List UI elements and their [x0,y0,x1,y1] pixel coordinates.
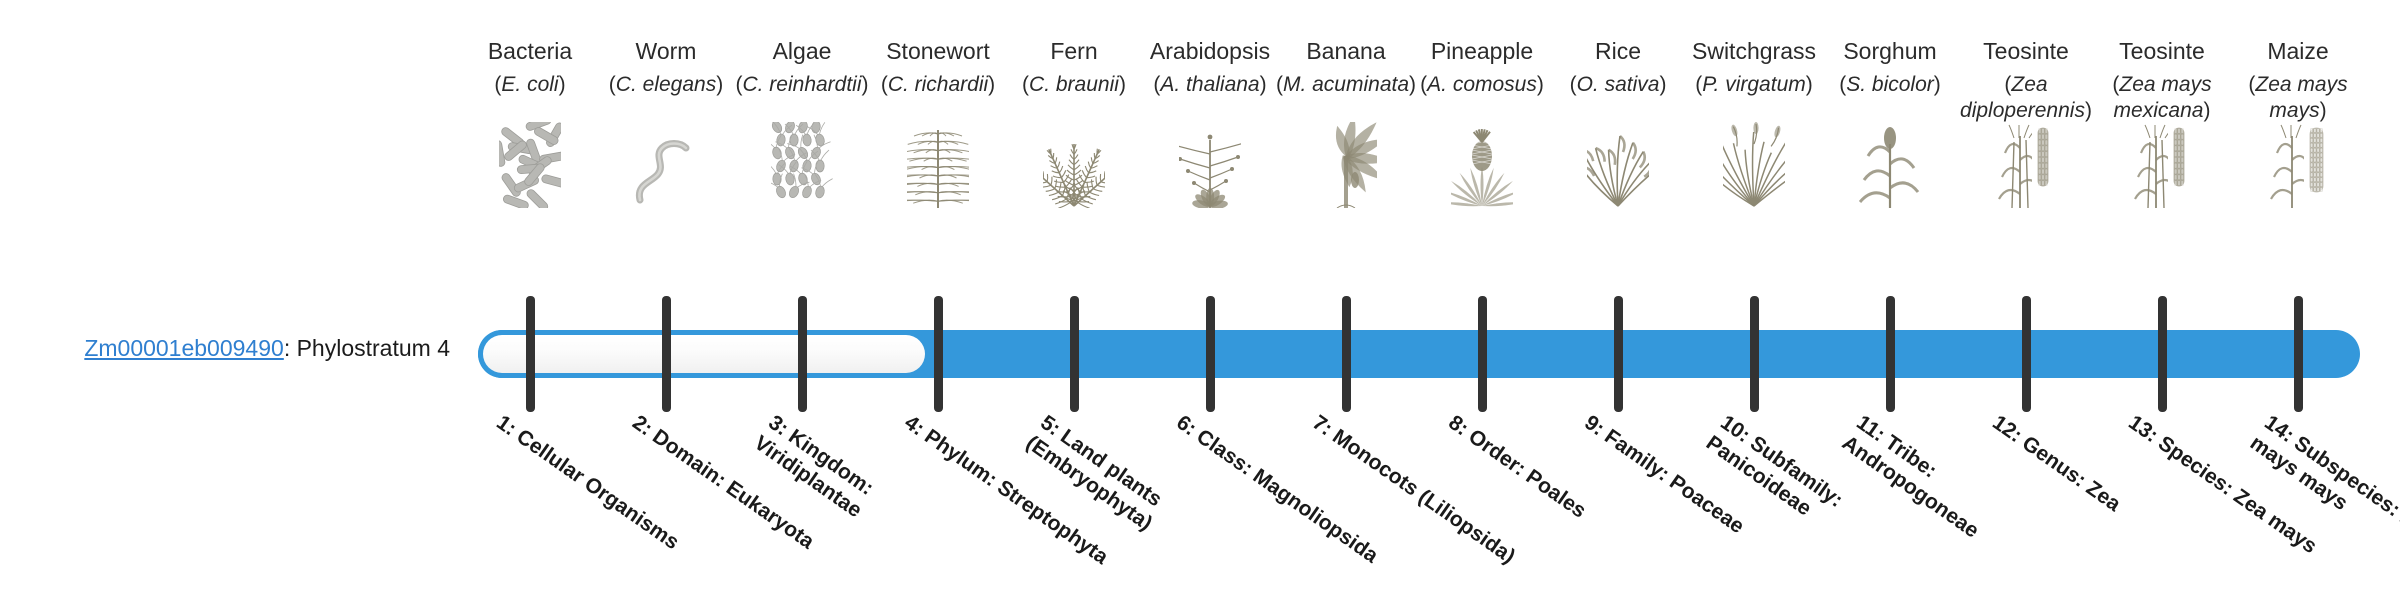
tick-mark-14 [2294,296,2303,412]
fern-frond-icon [1006,120,1142,208]
maize-plant-ear-icon [2230,120,2366,208]
teosinte-plant-ear-icon [2094,120,2230,208]
tick-mark-1 [526,296,535,412]
tick-mark-11 [1886,296,1895,412]
species-scientific-name: (C. richardii) [860,72,1016,98]
phylostratum-progress-bar[interactable] [478,330,2360,378]
species-scientific-name: (Zea mays mays) [2220,72,2376,124]
tick-mark-6 [1206,296,1215,412]
species-scientific-name: (P. virgatum) [1676,72,1832,98]
species-scientific-name: (C. braunii) [996,72,1152,98]
tick-mark-8 [1478,296,1487,412]
phylostratum-value: Phylostratum 4 [297,335,450,361]
tick-mark-10 [1750,296,1759,412]
species-scientific-name: (E. coli) [452,72,608,98]
teosinte-plant-ear-icon [1958,120,2094,208]
species-scientific-name: (M. acuminata) [1268,72,1424,98]
banana-plant-icon [1278,120,1414,208]
species-scientific-name: (Zea mays mexicana) [2084,72,2240,124]
tick-mark-13 [2158,296,2167,412]
tick-mark-7 [1342,296,1351,412]
tick-mark-5 [1070,296,1079,412]
nematode-worm-icon [598,120,734,208]
species-scientific-name: (Zea diploperennis) [1948,72,2104,124]
species-scientific-name: (A. thaliana) [1132,72,1288,98]
rice-plant-icon [1550,120,1686,208]
species-scientific-name: (C. reinhardtii) [724,72,880,98]
bacteria-rods-icon [462,120,598,208]
tick-mark-3 [798,296,807,412]
tick-mark-4 [934,296,943,412]
sorghum-plant-icon [1822,120,1958,208]
species-common-name: Maize [2216,38,2380,65]
gene-label-separator: : [284,335,297,361]
gene-phylostratum-label: Zm00001eb009490: Phylostratum 4 [30,334,450,362]
switchgrass-icon [1686,120,1822,208]
species-scientific-name: (S. bicolor) [1812,72,1968,98]
stonewort-icon [870,120,1006,208]
algae-cells-icon [734,120,870,208]
tick-mark-12 [2022,296,2031,412]
phylostratum-figure: Zm00001eb009490: Phylostratum 4 Bacteria… [0,0,2400,580]
progress-bar-unfilled-inner [483,335,925,373]
species-scientific-name: (C. elegans) [588,72,744,98]
species-scientific-name: (O. sativa) [1540,72,1696,98]
progress-bar-unfilled-region [478,330,930,378]
species-scientific-name: (A. comosus) [1404,72,1560,98]
gene-id-link[interactable]: Zm00001eb009490 [84,335,284,361]
arabidopsis-icon [1142,120,1278,208]
tick-mark-9 [1614,296,1623,412]
tick-mark-2 [662,296,671,412]
pineapple-plant-icon [1414,120,1550,208]
